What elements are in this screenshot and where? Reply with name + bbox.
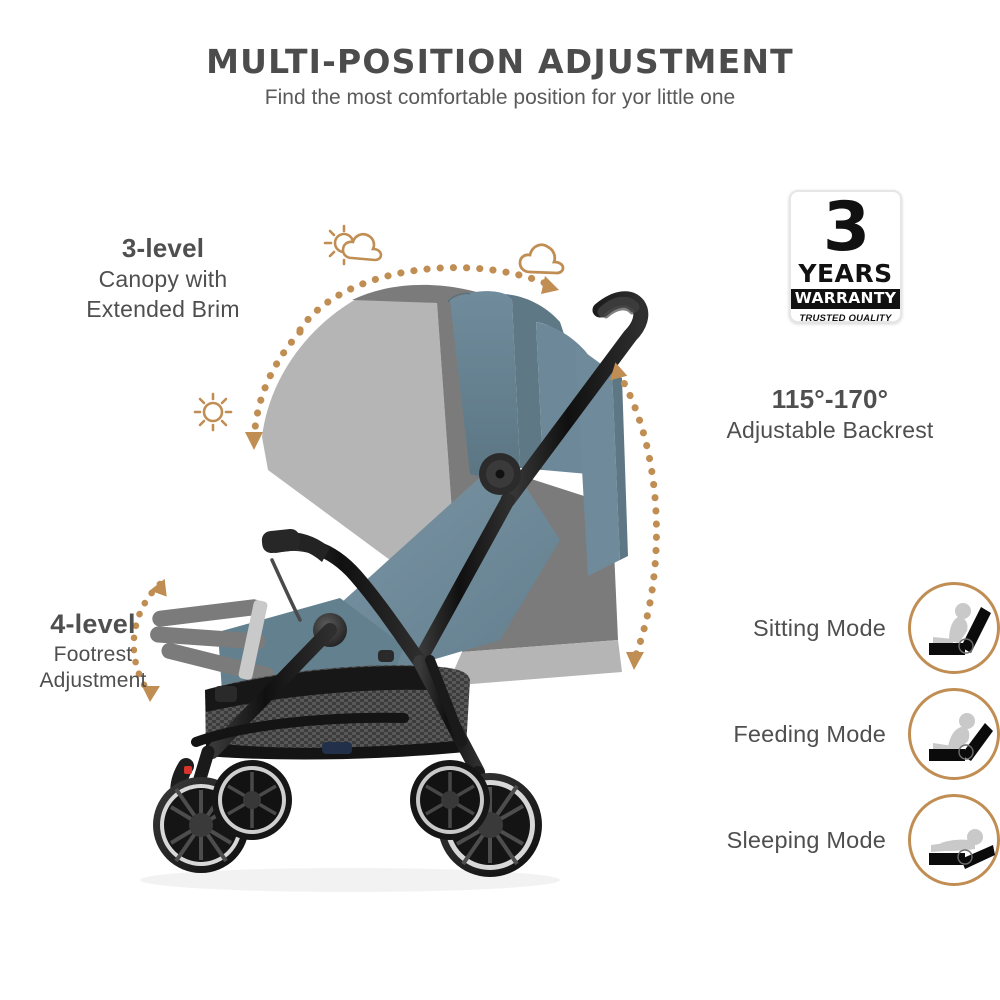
sun-icon xyxy=(195,394,231,430)
ground-shadow xyxy=(140,868,560,892)
mode-row-sitting: Sitting Mode xyxy=(660,580,1000,676)
seat-reclined-icon xyxy=(908,688,1000,780)
canopy-lower-arc-arrow xyxy=(245,332,300,450)
mode-label-sitting: Sitting Mode xyxy=(660,615,908,642)
seat-backrest-fabric xyxy=(300,330,628,690)
warranty-badge: 3 YEARS WARRANTY TRUSTED QUALITY xyxy=(789,190,902,323)
backrest-arc-double-arrow xyxy=(606,360,657,670)
callout-canopy: 3-level Canopy with Extended Brim xyxy=(18,232,308,324)
callout-canopy-line3: Extended Brim xyxy=(18,295,308,324)
callout-footrest-line2: Footrest xyxy=(8,642,178,669)
callout-backrest-line2: Adjustable Backrest xyxy=(665,416,995,445)
infographic-canvas: MULTI-POSITION ADJUSTMENT Find the most … xyxy=(0,0,1000,1000)
warranty-number: 3 xyxy=(823,196,868,261)
warranty-years: YEARS xyxy=(798,261,892,286)
backrest-ghost-positions xyxy=(435,468,622,686)
sun-behind-cloud-icon xyxy=(325,226,381,264)
callout-footrest-line1: 4-level xyxy=(8,607,178,642)
mode-row-sleeping: Sleeping Mode xyxy=(660,792,1000,888)
wheels xyxy=(153,760,542,877)
canopy xyxy=(448,291,608,480)
callout-footrest-line3: Adjustment xyxy=(8,668,178,695)
callout-backrest: 115°-170° Adjustable Backrest xyxy=(665,383,995,446)
callout-canopy-line2: Canopy with xyxy=(18,265,308,294)
seat-upright-icon xyxy=(908,582,1000,674)
canopy-arc-arrow xyxy=(300,268,559,330)
callout-footrest: 4-level Footrest Adjustment xyxy=(8,607,178,695)
mode-row-feeding: Feeding Mode xyxy=(660,686,1000,782)
callout-canopy-line1: 3-level xyxy=(18,232,308,265)
page-title: MULTI-POSITION ADJUSTMENT xyxy=(0,42,1000,81)
canopy-ghost-positions xyxy=(262,285,498,560)
cloud-icon xyxy=(520,245,563,273)
seat-flat-icon xyxy=(908,794,1000,886)
callout-backrest-line1: 115°-170° xyxy=(665,383,995,416)
warranty-tagline: TRUSTED QUALITY xyxy=(799,313,891,323)
seat-base-fabric xyxy=(196,598,420,700)
warranty-word: WARRANTY xyxy=(789,289,902,310)
mode-label-feeding: Feeding Mode xyxy=(660,721,908,748)
mode-label-sleeping: Sleeping Mode xyxy=(660,827,908,854)
stroller-frame xyxy=(178,299,641,808)
storage-basket xyxy=(205,665,470,759)
page-subtitle: Find the most comfortable position for y… xyxy=(0,86,1000,110)
